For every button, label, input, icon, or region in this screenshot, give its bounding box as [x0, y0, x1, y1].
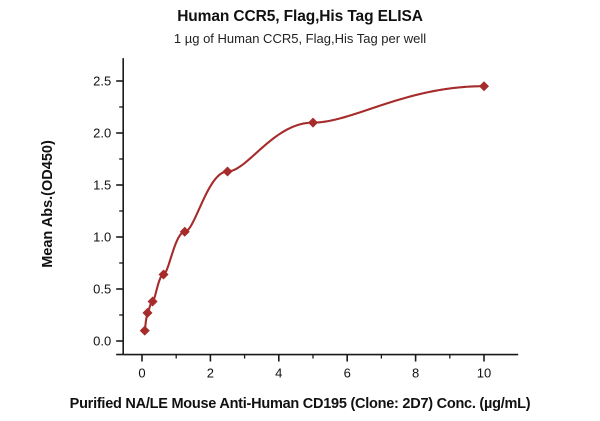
data-point-marker — [148, 296, 158, 306]
tick-label: 8 — [412, 366, 419, 381]
tick-label: 6 — [344, 366, 351, 381]
tick-label: 10 — [477, 366, 491, 381]
tick-label: 4 — [275, 366, 282, 381]
tick-label: 1.0 — [93, 230, 111, 245]
plot-area: 0.00.51.01.52.02.5 0246810 — [0, 0, 600, 421]
axes — [123, 58, 518, 354]
tick-label: 2 — [207, 366, 214, 381]
data-point-marker — [479, 81, 489, 91]
data-points — [140, 81, 489, 335]
data-point-marker — [308, 118, 318, 128]
tick-label: 2.5 — [93, 74, 111, 89]
elisa-chart-figure: Human CCR5, Flag,His Tag ELISA 1 µg of H… — [0, 0, 600, 421]
tick-label: 0.0 — [93, 334, 111, 349]
x-axis-label: Purified NA/LE Mouse Anti-Human CD195 (C… — [0, 396, 600, 412]
y-axis-ticks: 0.00.51.01.52.02.5 — [93, 74, 123, 349]
tick-label: 1.5 — [93, 178, 111, 193]
tick-label: 2.0 — [93, 126, 111, 141]
x-axis-ticks: 0246810 — [116, 355, 491, 381]
tick-label: 0.5 — [93, 282, 111, 297]
data-point-marker — [142, 308, 152, 318]
data-point-marker — [223, 166, 233, 176]
tick-label: 0 — [138, 366, 145, 381]
data-point-marker — [140, 326, 150, 336]
y-axis-label: Mean Abs.(OD450) — [40, 94, 56, 314]
